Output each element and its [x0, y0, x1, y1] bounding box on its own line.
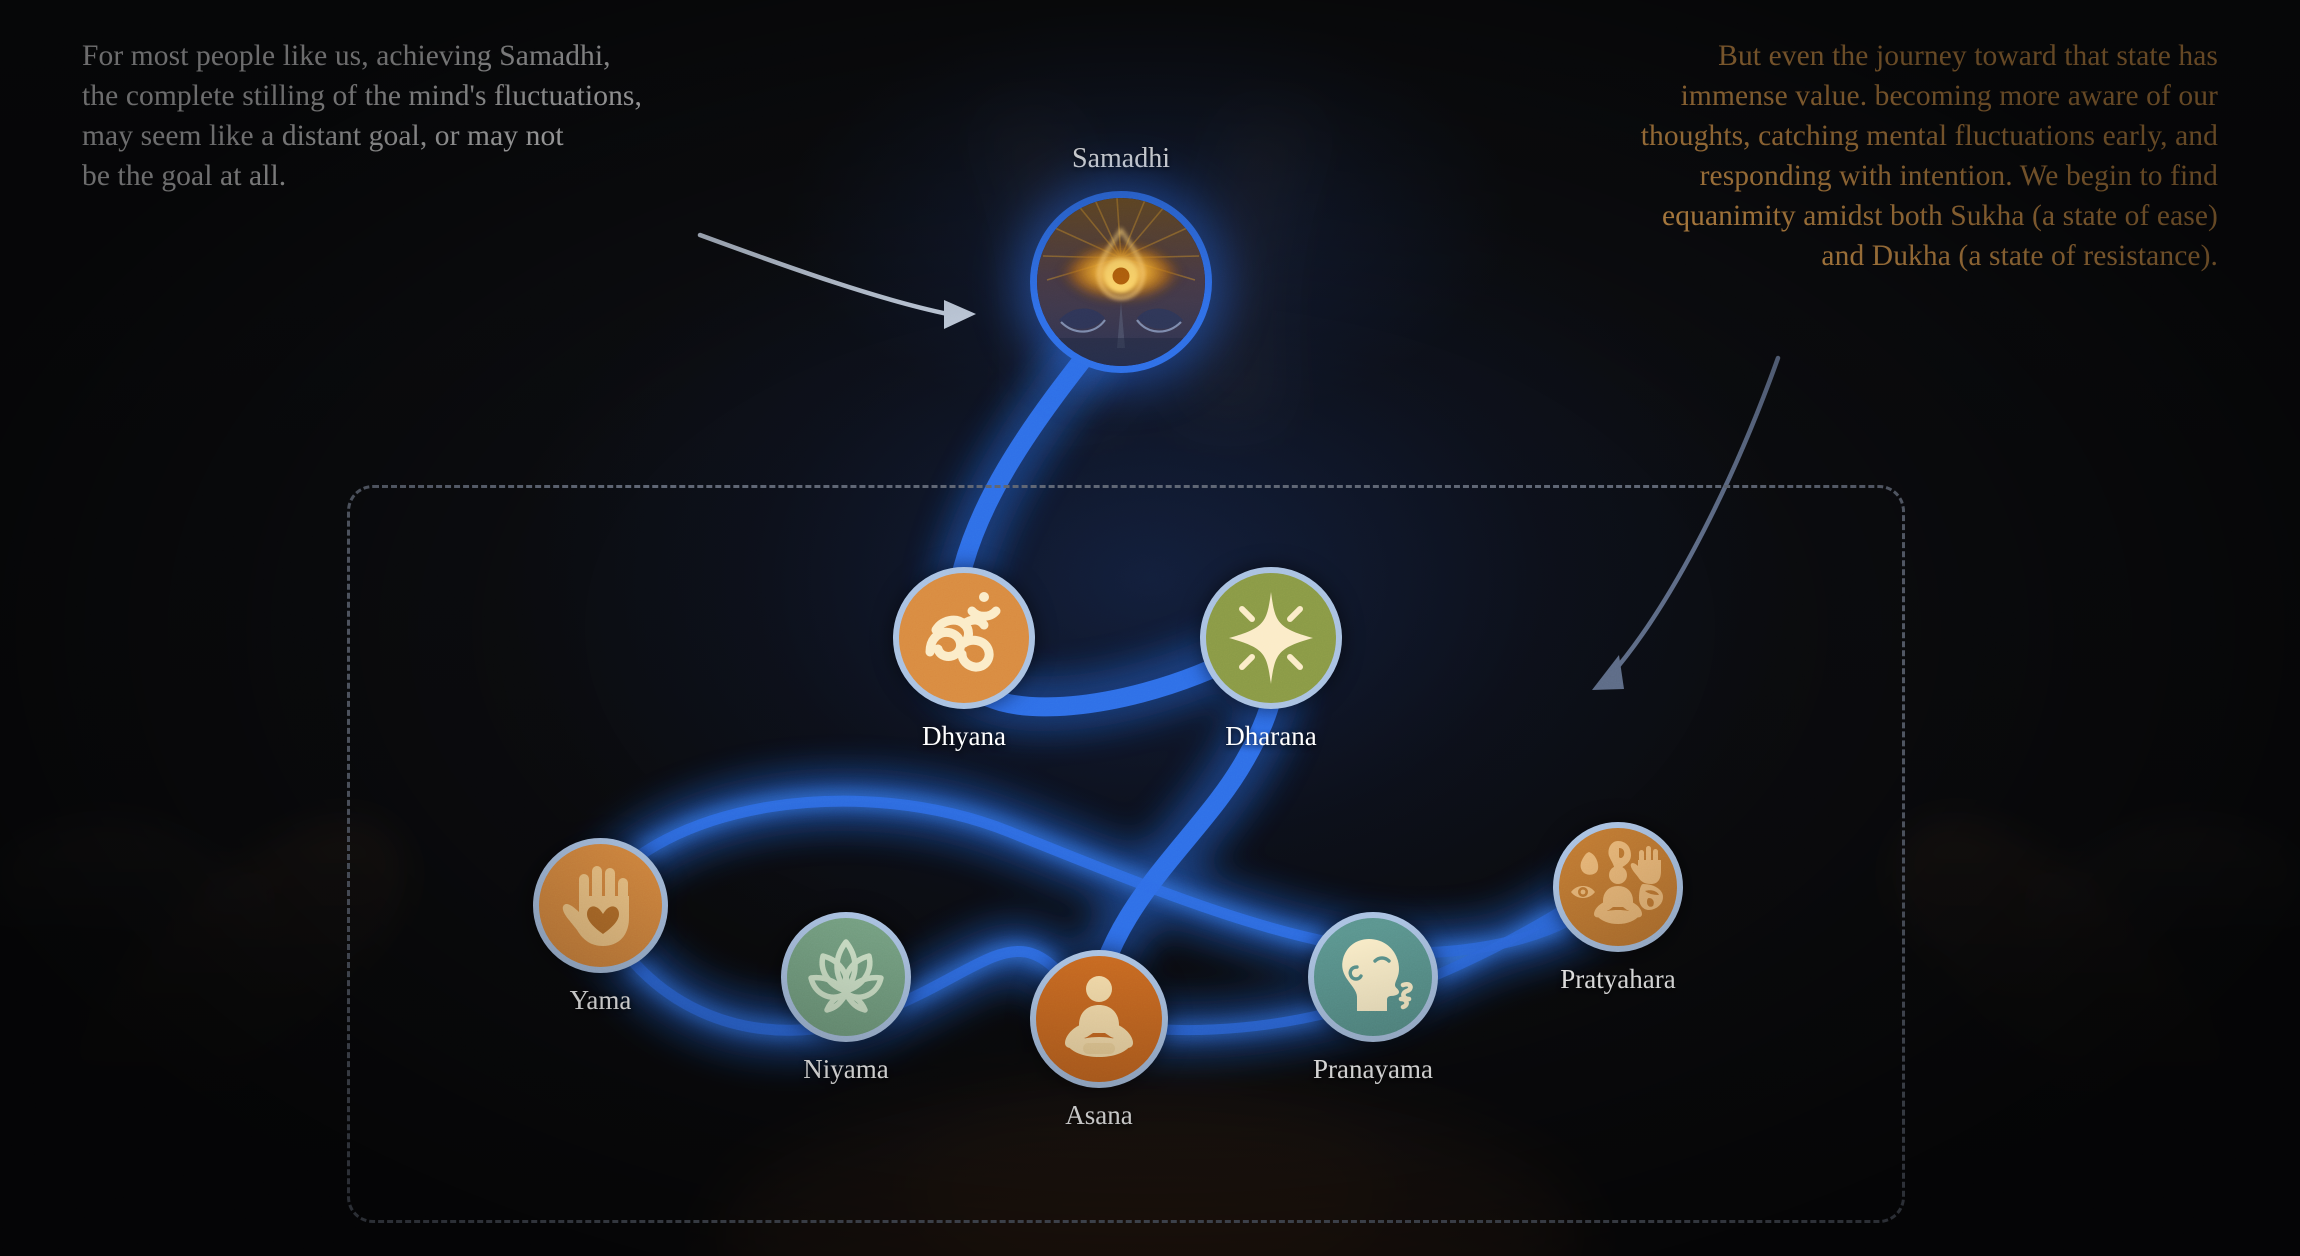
diagram-canvas: For most people like us, achieving Samad… — [0, 0, 2300, 1256]
film-grain-overlay — [0, 0, 2300, 1256]
